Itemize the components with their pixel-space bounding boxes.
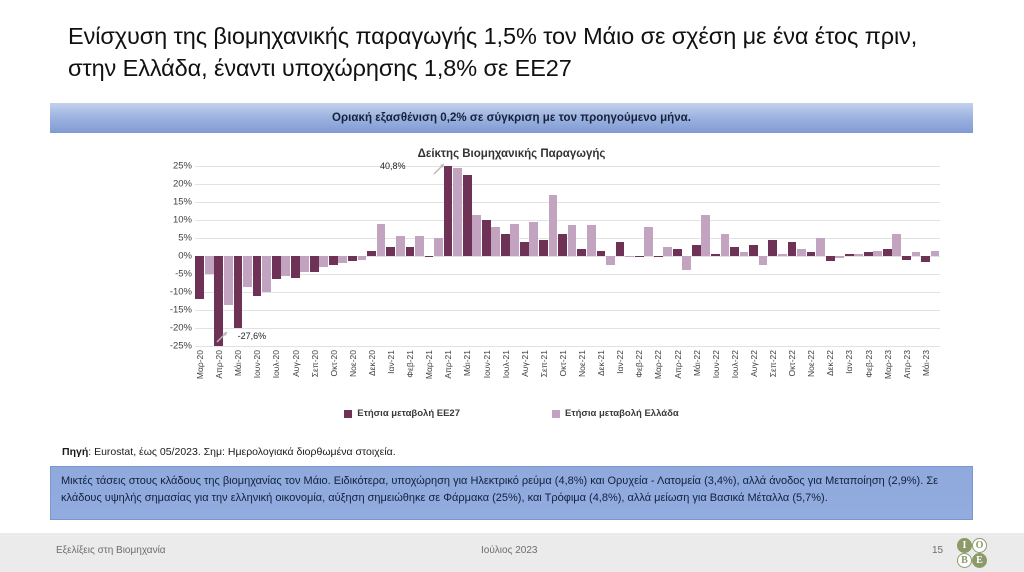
bar-group — [730, 166, 749, 346]
x-axis-tick-label: Αυγ-22 — [749, 350, 768, 377]
bar-greece — [625, 256, 634, 257]
annotation-arrow-icon — [433, 162, 447, 181]
bar-greece — [453, 168, 462, 256]
bar-ee27 — [291, 256, 300, 278]
bar-group — [291, 166, 310, 346]
y-axis-tick-label: 20% — [173, 179, 192, 190]
bar-ee27 — [673, 249, 682, 256]
bar-ee27 — [768, 240, 777, 256]
bar-greece — [529, 222, 538, 256]
bar-greece — [587, 225, 596, 256]
bar-ee27 — [864, 252, 873, 256]
bar-ee27 — [482, 220, 491, 256]
bar-group — [653, 166, 672, 346]
bar-ee27 — [425, 256, 434, 257]
y-axis-tick-label: -5% — [175, 269, 192, 280]
x-axis-tick-label: Οκτ-22 — [787, 350, 806, 377]
bar-ee27 — [558, 234, 567, 256]
legend-label-greece: Ετήσια μεταβολή Ελλάδα — [565, 408, 679, 419]
bar-greece — [892, 234, 901, 256]
footer: Εξελίξεις στη Βιομηχανία Ιούλιος 2023 15 — [0, 533, 1024, 572]
bar-greece — [434, 238, 443, 256]
bar-greece — [358, 256, 367, 260]
bar-group — [310, 166, 329, 346]
bar-greece — [396, 236, 405, 256]
bar-group — [348, 166, 367, 346]
bar-ee27 — [520, 242, 529, 256]
bar-ee27 — [730, 247, 739, 256]
bar-ee27 — [501, 234, 510, 256]
legend-swatch-icon-greece — [552, 410, 560, 418]
subtitle-band-text: Οριακή εξασθένιση 0,2% σε σύγκριση με το… — [332, 112, 691, 124]
bar-group — [520, 166, 539, 346]
bar-greece — [759, 256, 768, 265]
bar-greece — [510, 224, 519, 256]
bar-group — [233, 166, 252, 346]
bar-ee27 — [883, 249, 892, 256]
bar-group — [921, 166, 940, 346]
y-axis-tick-label: -20% — [170, 323, 192, 334]
bar-ee27 — [845, 254, 854, 256]
bar-greece — [205, 256, 214, 274]
chart-legend: Ετήσια μεταβολή ΕΕ27 Ετήσια μεταβολή Ελλ… — [50, 408, 973, 419]
bar-greece — [701, 215, 710, 256]
bar-ee27 — [749, 245, 758, 256]
x-axis-tick-label: Μάι-22 — [692, 350, 711, 376]
bar-ee27 — [788, 242, 797, 256]
bar-group — [768, 166, 787, 346]
bar-ee27 — [348, 256, 357, 261]
x-axis-tick-label: Ιαν-22 — [615, 350, 634, 374]
x-axis-tick-label: Μαρ-23 — [883, 350, 902, 379]
x-axis-tick-label: Σεπ-21 — [539, 350, 558, 377]
x-axis-tick-label: Οκτ-20 — [329, 350, 348, 377]
x-axis-tick-label: Ιουλ-20 — [271, 350, 290, 378]
bar-greece — [281, 256, 290, 276]
x-axis-labels: Μαρ-20Απρ-20Μάι-20Ιουν-20Ιουλ-20Αυγ-20Σε… — [195, 350, 940, 408]
y-axis-tick-label: -15% — [170, 305, 192, 316]
source-note: Πηγή: Eurostat, έως 05/2023. Σημ: Ημερολ… — [62, 446, 396, 458]
bar-group — [558, 166, 577, 346]
x-axis-tick-label: Δεκ-22 — [825, 350, 844, 376]
bar-ee27 — [902, 256, 911, 260]
bar-group — [844, 166, 863, 346]
logo-letter-o: O — [972, 538, 987, 553]
x-axis-tick-label: Φεβ-21 — [405, 350, 424, 378]
bar-ee27 — [253, 256, 262, 296]
x-axis-tick-label: Δεκ-21 — [596, 350, 615, 376]
bar-group — [615, 166, 634, 346]
bar-ee27 — [463, 175, 472, 256]
source-text: : Eurostat, έως 05/2023. Σημ: Ημερολογια… — [88, 446, 395, 458]
commentary-text: Μικτές τάσεις στους κλάδους της βιομηχαν… — [61, 473, 962, 506]
bar-group — [462, 166, 481, 346]
bar-greece — [300, 256, 309, 272]
x-axis-tick-label: Νοε-21 — [577, 350, 596, 377]
x-axis-tick-label: Απρ-23 — [902, 350, 921, 379]
x-axis-tick-label: Οκτ-21 — [558, 350, 577, 377]
subtitle-band: Οριακή εξασθένιση 0,2% σε σύγκριση με το… — [50, 103, 973, 133]
y-axis-tick-label: 15% — [173, 197, 192, 208]
bar-group — [749, 166, 768, 346]
bar-group — [386, 166, 405, 346]
bar-greece — [682, 256, 691, 270]
bar-ee27 — [711, 254, 720, 256]
chart-container: Δείκτης Βιομηχανικής Παραγωγής 25%20%15%… — [50, 140, 973, 440]
iobe-logo: I O B E — [957, 538, 987, 568]
bar-group — [443, 166, 462, 346]
bar-ee27 — [654, 256, 663, 257]
x-axis-tick-label: Μαρ-21 — [424, 350, 443, 379]
bar-group — [214, 166, 233, 346]
bar-greece — [644, 227, 653, 256]
bar-ee27 — [406, 247, 415, 256]
bar-greece — [472, 215, 481, 256]
bar-ee27 — [234, 256, 243, 328]
footer-section-label: Εξελίξεις στη Βιομηχανία — [56, 545, 166, 556]
footer-date: Ιούλιος 2023 — [481, 545, 537, 556]
x-axis-tick-label: Μάι-23 — [921, 350, 940, 376]
bar-group — [424, 166, 443, 346]
y-axis-tick-label: -25% — [170, 341, 192, 352]
x-axis-tick-label: Μάι-20 — [233, 350, 252, 376]
legend-swatch-icon-ee27 — [344, 410, 352, 418]
bar-group — [195, 166, 214, 346]
bar-ee27 — [635, 256, 644, 257]
bar-group — [692, 166, 711, 346]
bar-group — [787, 166, 806, 346]
x-axis-tick-label: Ιαν-23 — [844, 350, 863, 374]
bar-ee27 — [616, 242, 625, 256]
bar-greece — [319, 256, 328, 267]
bar-group — [577, 166, 596, 346]
bar-greece — [873, 251, 882, 256]
bar-ee27 — [310, 256, 319, 272]
x-axis-tick-label: Ιουλ-22 — [730, 350, 749, 378]
bar-greece — [778, 254, 787, 256]
bar-greece — [835, 256, 844, 258]
x-axis-tick-label: Νοε-22 — [806, 350, 825, 377]
bar-ee27 — [577, 249, 586, 256]
bar-ee27 — [921, 256, 930, 262]
x-axis-tick-label: Μαρ-22 — [653, 350, 672, 379]
bar-greece — [721, 234, 730, 256]
x-axis-tick-label: Ιαν-21 — [386, 350, 405, 374]
x-axis-tick-label: Ιουν-21 — [482, 350, 501, 378]
bar-group — [711, 166, 730, 346]
x-axis-tick-label: Απρ-22 — [673, 350, 692, 379]
bar-ee27 — [807, 252, 816, 256]
bar-greece — [797, 249, 806, 256]
bar-greece — [606, 256, 615, 265]
bar-group — [864, 166, 883, 346]
x-axis-tick-label: Ιουν-22 — [711, 350, 730, 378]
bar-ee27 — [692, 245, 701, 256]
chart-title: Δείκτης Βιομηχανικής Παραγωγής — [50, 148, 973, 160]
bar-greece — [491, 227, 500, 256]
bar-group — [596, 166, 615, 346]
bar-greece — [568, 225, 577, 256]
bar-greece — [816, 238, 825, 256]
bar-ee27 — [367, 251, 376, 256]
bar-group — [482, 166, 501, 346]
bar-group — [367, 166, 386, 346]
bar-group — [902, 166, 921, 346]
bar-greece — [377, 224, 386, 256]
x-axis-tick-label: Μάι-21 — [462, 350, 481, 376]
bar-ee27 — [272, 256, 281, 279]
slide: Ενίσχυση της βιομηχανικής παραγωγής 1,5%… — [0, 0, 1024, 572]
bar-greece — [243, 256, 252, 287]
logo-letter-i: I — [957, 538, 972, 553]
bar-greece — [663, 247, 672, 256]
bar-greece — [262, 256, 271, 292]
bar-group — [673, 166, 692, 346]
footer-page-number: 15 — [932, 545, 943, 556]
y-axis-tick-label: 5% — [178, 233, 192, 244]
x-axis-tick-label: Αυγ-20 — [291, 350, 310, 377]
y-axis-tick-label: 25% — [173, 161, 192, 172]
legend-item-greece: Ετήσια μεταβολή Ελλάδα — [552, 408, 679, 419]
x-axis-tick-label: Αυγ-21 — [520, 350, 539, 377]
legend-item-ee27: Ετήσια μεταβολή ΕΕ27 — [344, 408, 460, 419]
x-axis-tick-label: Δεκ-20 — [367, 350, 386, 376]
y-axis-tick-label: 0% — [178, 251, 192, 262]
legend-label-ee27: Ετήσια μεταβολή ΕΕ27 — [357, 408, 460, 419]
bar-greece — [338, 256, 347, 263]
bar-ee27 — [386, 247, 395, 256]
y-axis-tick-label: -10% — [170, 287, 192, 298]
x-axis-tick-label: Νοε-20 — [348, 350, 367, 377]
bar-greece — [931, 251, 940, 256]
x-axis-tick-label: Μαρ-20 — [195, 350, 214, 379]
bar-ee27 — [826, 256, 835, 261]
bar-greece — [549, 195, 558, 256]
bar-group — [883, 166, 902, 346]
chart-annotation: 40,8% — [380, 161, 406, 171]
logo-letter-e: E — [972, 553, 987, 568]
bar-group — [405, 166, 424, 346]
chart-annotation: -27,6% — [238, 331, 267, 341]
logo-letter-b: B — [957, 553, 972, 568]
bar-group — [539, 166, 558, 346]
bar-group — [252, 166, 271, 346]
x-axis-tick-label: Ιουν-20 — [252, 350, 271, 378]
bar-group — [806, 166, 825, 346]
bar-greece — [415, 236, 424, 256]
bar-ee27 — [329, 256, 338, 265]
bar-group — [825, 166, 844, 346]
commentary-box: Μικτές τάσεις στους κλάδους της βιομηχαν… — [50, 466, 973, 520]
x-axis-tick-label: Απρ-21 — [443, 350, 462, 379]
bar-ee27 — [597, 251, 606, 256]
bar-greece — [912, 252, 921, 256]
bar-group — [271, 166, 290, 346]
gridline — [195, 346, 940, 347]
x-axis-tick-label: Φεβ-23 — [864, 350, 883, 378]
chart-bars — [195, 166, 940, 346]
annotation-arrow-icon — [216, 330, 230, 349]
bar-ee27 — [539, 240, 548, 256]
x-axis-tick-label: Απρ-20 — [214, 350, 233, 379]
bar-greece — [854, 254, 863, 256]
page-title: Ενίσχυση της βιομηχανικής παραγωγής 1,5%… — [68, 20, 968, 85]
bar-greece — [740, 252, 749, 256]
chart-plot-area: -27,6%40,8% — [195, 166, 940, 346]
x-axis-tick-label: Φεβ-22 — [634, 350, 653, 378]
y-axis-labels: 25%20%15%10%5%0%-5%-10%-15%-20%-25% — [160, 166, 192, 346]
y-axis-tick-label: 10% — [173, 215, 192, 226]
bar-group — [329, 166, 348, 346]
source-label: Πηγή — [62, 446, 88, 458]
bar-ee27 — [195, 256, 204, 299]
x-axis-tick-label: Σεπ-20 — [310, 350, 329, 377]
x-axis-tick-label: Σεπ-22 — [768, 350, 787, 377]
bar-group — [634, 166, 653, 346]
x-axis-tick-label: Ιουλ-21 — [501, 350, 520, 378]
bar-group — [501, 166, 520, 346]
bar-greece — [224, 256, 233, 305]
